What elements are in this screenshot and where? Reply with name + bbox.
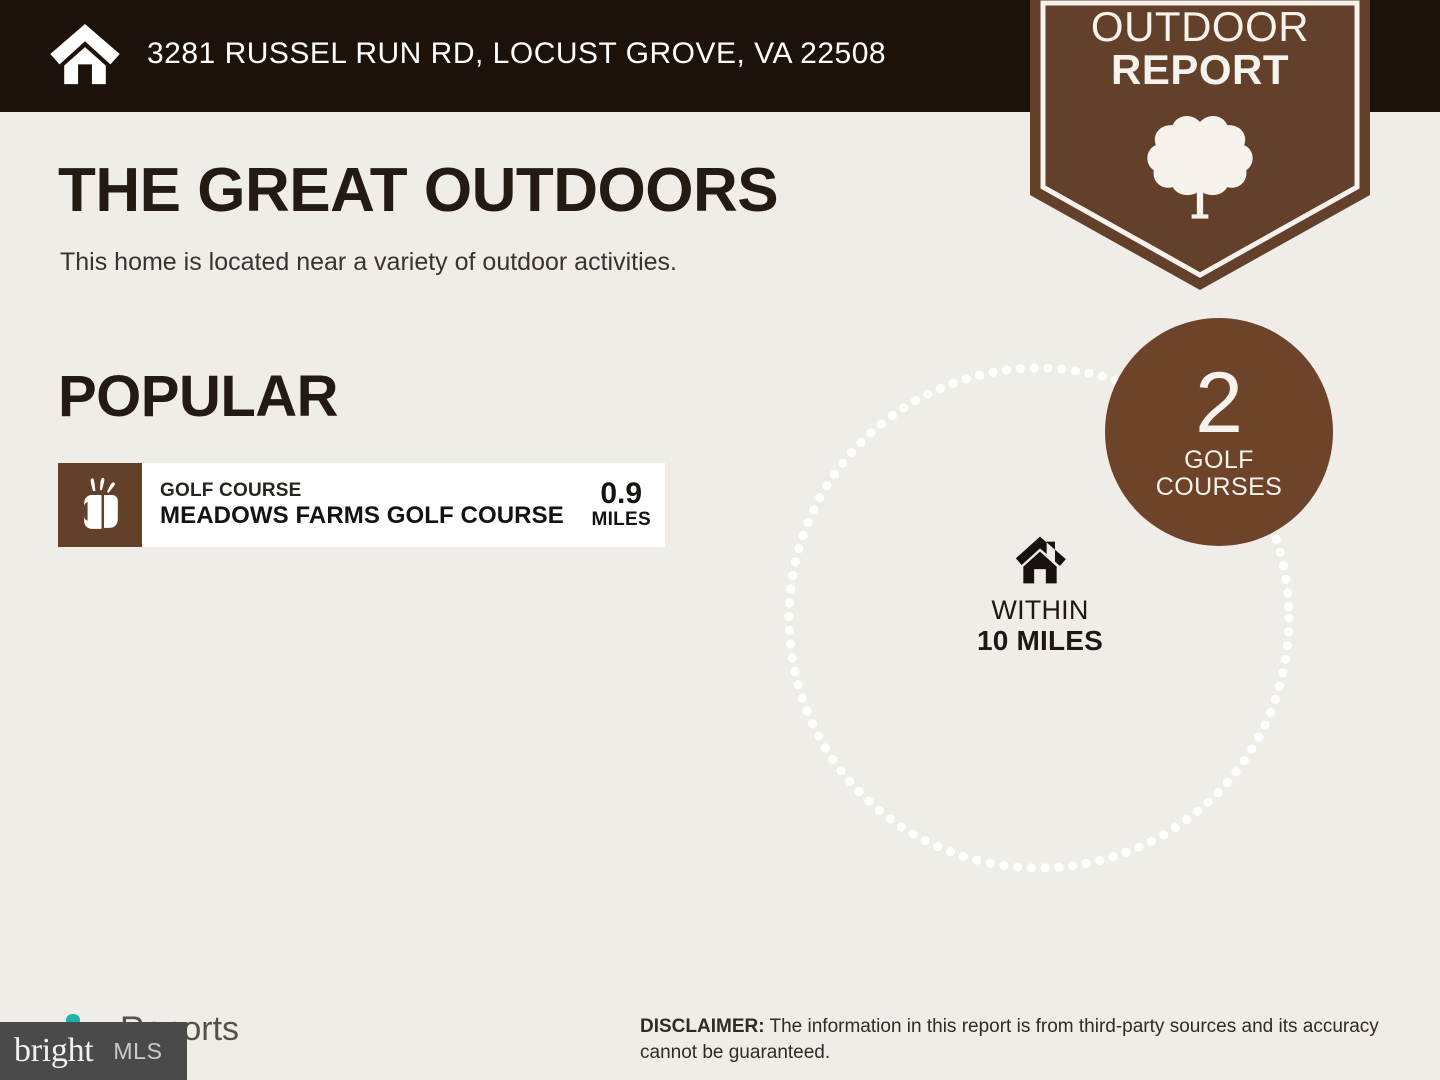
golf-bag-icon: [58, 463, 142, 547]
list-item-category: GOLF COURSE: [160, 479, 585, 503]
brightmls-wordmark: bright: [14, 1034, 93, 1068]
disclaimer: DISCLAIMER: The information in this repo…: [640, 1014, 1385, 1065]
disclaimer-label: DISCLAIMER:: [640, 1016, 765, 1037]
radius-label-within: WITHIN: [770, 595, 1310, 625]
list-item-distance: 0.9 MILES: [585, 463, 665, 547]
count-badge-number: 2: [1195, 364, 1243, 443]
home-icon: [48, 17, 122, 91]
radius-label-miles: 10 MILES: [770, 625, 1310, 656]
shield-shape: [1030, 0, 1370, 290]
page-subtitle: This home is located near a variety of o…: [60, 250, 677, 275]
header-address-group: 3281 RUSSEL RUN RD, LOCUST GROVE, VA 225…: [48, 14, 886, 94]
radius-center-marker: WITHIN 10 MILES: [770, 535, 1310, 657]
popular-list: GOLF COURSE MEADOWS FARMS GOLF COURSE 0.…: [58, 463, 665, 557]
list-item-distance-unit: MILES: [591, 510, 651, 531]
list-item-distance-value: 0.9: [600, 479, 642, 510]
section-heading-popular: POPULAR: [58, 368, 338, 426]
brightmls-logo[interactable]: bright MLS: [0, 1022, 187, 1080]
count-badge-label-line1: GOLF: [1184, 447, 1254, 474]
home-icon: [1013, 535, 1067, 585]
page-title: THE GREAT OUTDOORS: [58, 160, 778, 222]
header-address: 3281 RUSSEL RUN RD, LOCUST GROVE, VA 225…: [147, 37, 886, 71]
list-item-name: MEADOWS FARMS GOLF COURSE: [160, 502, 585, 531]
count-badge-golf-courses: 2 GOLF COURSES: [1105, 318, 1333, 546]
outdoor-report-badge: OUTDOOR REPORT: [1030, 0, 1370, 290]
list-item[interactable]: GOLF COURSE MEADOWS FARMS GOLF COURSE 0.…: [58, 463, 665, 547]
count-badge-label-line2: COURSES: [1156, 474, 1282, 501]
brightmls-mls-text: MLS: [113, 1040, 162, 1063]
list-item-text: GOLF COURSE MEADOWS FARMS GOLF COURSE: [142, 463, 585, 547]
